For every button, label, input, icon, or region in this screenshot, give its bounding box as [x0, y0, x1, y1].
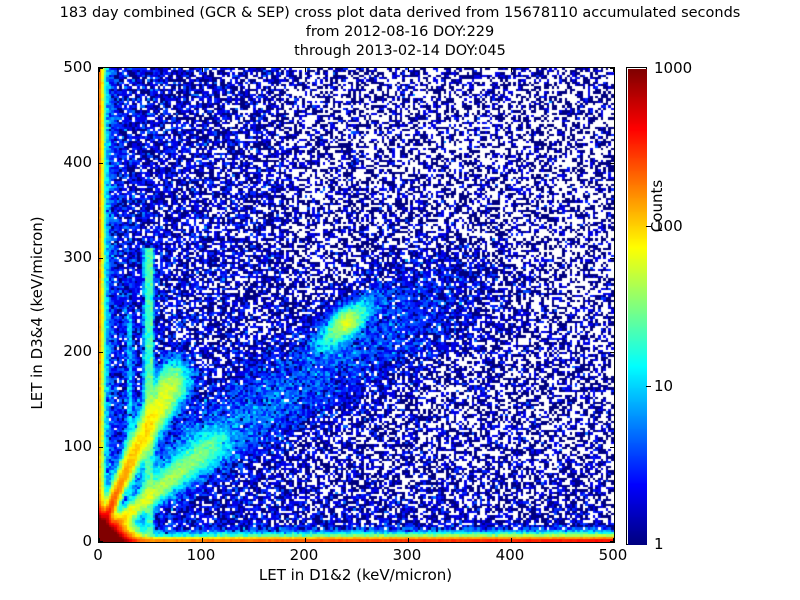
y-tick: [99, 68, 103, 69]
colorbar-gradient-frame: [626, 67, 647, 545]
x-tick-label: 300: [393, 546, 422, 564]
colorbar: 1101001000: [626, 67, 647, 545]
y-tick-label-text: 200: [63, 342, 92, 360]
title-line-1: 183 day combined (GCR & SEP) cross plot …: [0, 4, 800, 23]
x-tick-label: 200: [290, 546, 319, 564]
x-tick-label: 0: [93, 546, 103, 564]
y-tick-label-text: 100: [63, 437, 92, 455]
y-tick-label-text: 0: [82, 532, 92, 550]
y-tick: [99, 258, 103, 259]
y-tick: [610, 258, 614, 259]
y-tick: [99, 163, 103, 164]
x-tick-label: 100: [187, 546, 216, 564]
x-tick: [511, 538, 512, 542]
y-tick: [610, 352, 614, 353]
x-tick-label: 400: [496, 546, 525, 564]
y-tick: [99, 352, 103, 353]
colorbar-tick-label: 1: [654, 535, 664, 553]
x-tick-label: 500: [599, 546, 628, 564]
figure: 183 day combined (GCR & SEP) cross plot …: [0, 0, 800, 600]
colorbar-tick-label: 1000: [654, 59, 692, 77]
scatter-heatmap-canvas: [99, 68, 614, 542]
colorbar-gradient: [628, 69, 647, 545]
plot-axes: [98, 67, 615, 543]
y-tick: [610, 68, 614, 69]
x-tick: [305, 538, 306, 542]
y-tick: [99, 541, 103, 542]
y-tick: [610, 163, 614, 164]
x-tick: [305, 68, 306, 72]
x-tick: [408, 68, 409, 72]
y-axis-label: LET in D3&4 (keV/micron): [28, 213, 46, 413]
x-tick: [202, 538, 203, 542]
x-axis-label: LET in D1&2 (keV/micron): [98, 566, 613, 584]
x-tick: [511, 68, 512, 72]
figure-title: 183 day combined (GCR & SEP) cross plot …: [0, 4, 800, 61]
x-tick: [202, 68, 203, 72]
y-tick: [610, 447, 614, 448]
colorbar-label: Counts: [648, 106, 666, 306]
colorbar-tick-label: 10: [654, 377, 673, 395]
y-tick-label-text: 300: [63, 248, 92, 266]
y-tick-label-text: 400: [63, 153, 92, 171]
colorbar-tick: [646, 386, 651, 387]
y-tick: [610, 541, 614, 542]
y-tick: [99, 447, 103, 448]
y-tick-label-text: 500: [63, 58, 92, 76]
title-line-2: from 2012-08-16 DOY:229: [0, 23, 800, 42]
x-tick: [408, 538, 409, 542]
